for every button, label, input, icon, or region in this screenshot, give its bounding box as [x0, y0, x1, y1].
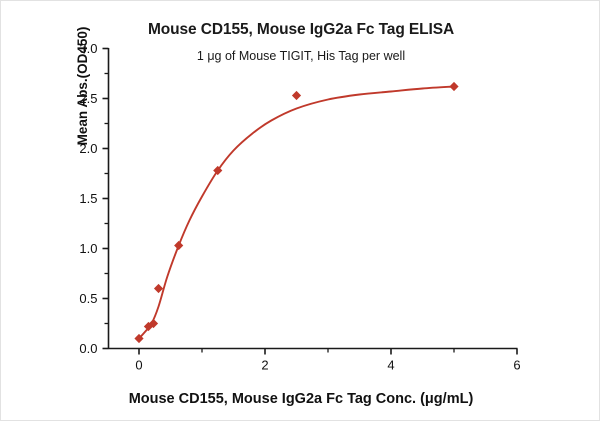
svg-text:6: 6 — [513, 358, 520, 373]
elisa-chart-figure: Mouse CD155, Mouse IgG2a Fc Tag ELISA 1 … — [0, 0, 600, 421]
svg-text:1.5: 1.5 — [79, 191, 97, 206]
data-point-marker — [449, 82, 458, 91]
svg-text:0.0: 0.0 — [79, 341, 97, 356]
svg-text:3.0: 3.0 — [79, 41, 97, 56]
data-point-marker — [174, 241, 183, 250]
svg-text:2.0: 2.0 — [79, 141, 97, 156]
svg-text:2.5: 2.5 — [79, 91, 97, 106]
svg-text:1.0: 1.0 — [79, 241, 97, 256]
ticks-group — [103, 49, 518, 355]
plot-area: 0.00.51.01.52.02.53.00246 — [1, 1, 600, 422]
svg-text:4: 4 — [387, 358, 394, 373]
svg-text:0.5: 0.5 — [79, 291, 97, 306]
axes-group — [109, 48, 518, 349]
svg-text:0: 0 — [135, 358, 142, 373]
fit-curve — [139, 87, 454, 339]
data-point-marker — [154, 284, 163, 293]
data-point-markers — [134, 82, 458, 343]
svg-text:2: 2 — [261, 358, 268, 373]
x-axis-label: Mouse CD155, Mouse IgG2a Fc Tag Conc. (μ… — [1, 391, 600, 407]
tick-labels-group: 0.00.51.01.52.02.53.00246 — [79, 41, 520, 373]
data-point-marker — [292, 91, 301, 100]
